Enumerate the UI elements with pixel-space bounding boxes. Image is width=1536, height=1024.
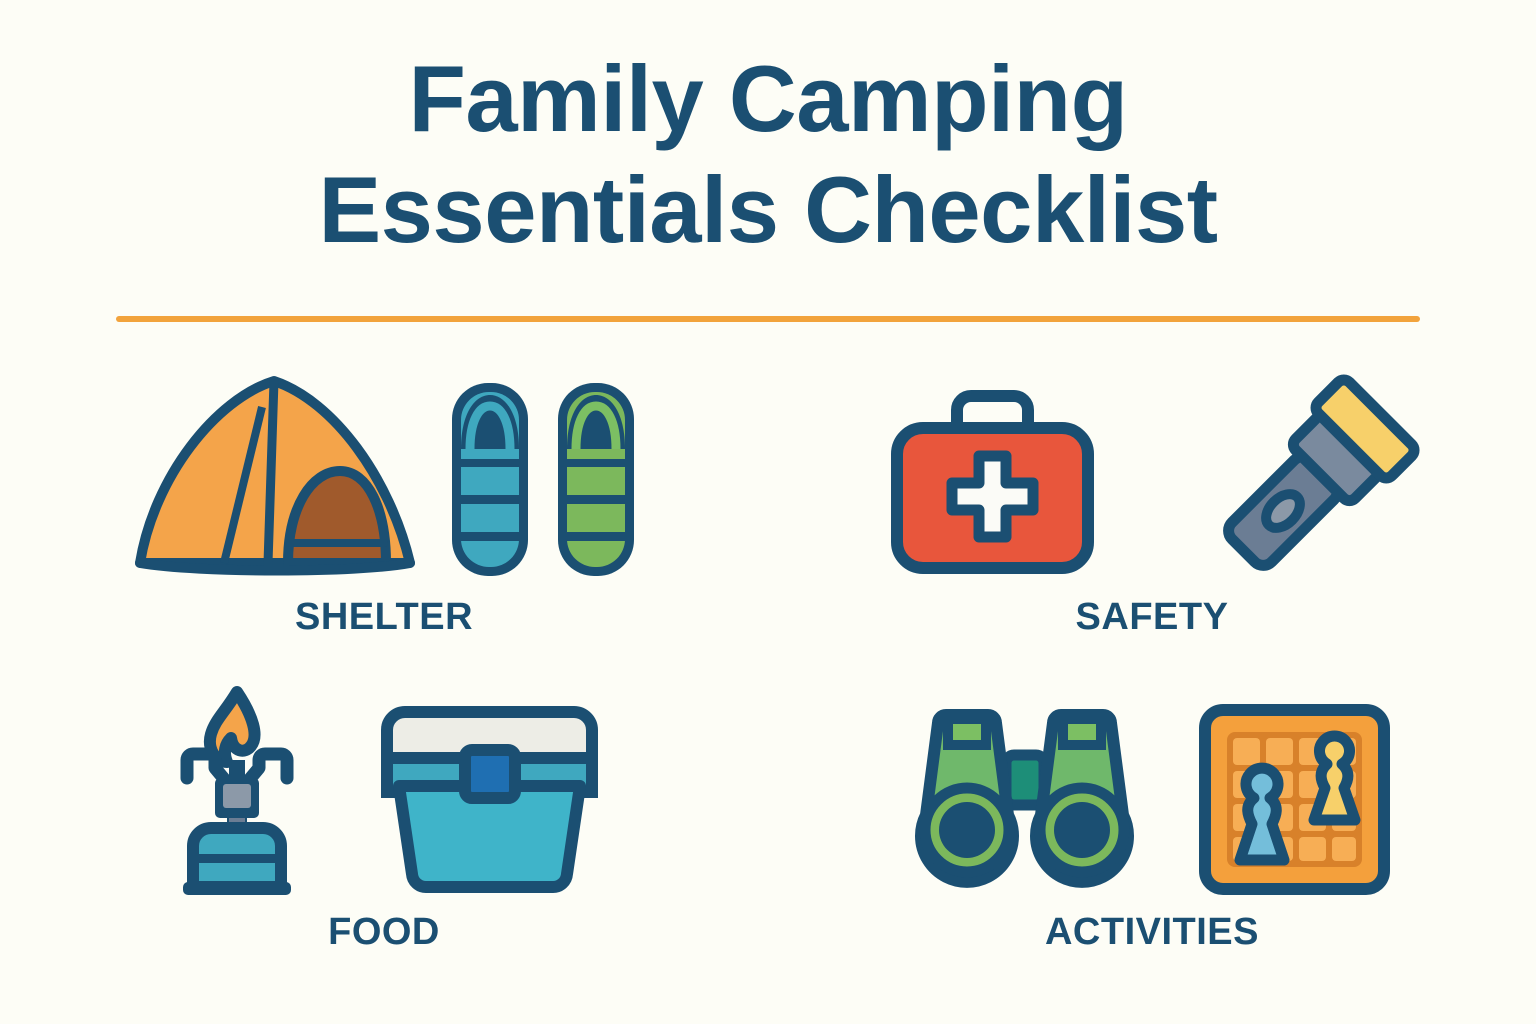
category-label-safety: SAFETY xyxy=(1076,596,1229,639)
category-label-food: FOOD xyxy=(328,911,440,954)
tent-icon xyxy=(128,367,428,582)
food-icons xyxy=(167,672,602,897)
first-aid-kit-icon xyxy=(885,382,1100,582)
safety-icons xyxy=(885,352,1420,582)
page-header: Family Camping Essentials Checklist xyxy=(0,44,1536,266)
category-safety[interactable]: SAFETY xyxy=(768,352,1536,672)
flashlight-icon xyxy=(1205,382,1420,582)
sleeping-bag-green-icon xyxy=(552,377,640,582)
category-label-activities: ACTIVITIES xyxy=(1045,911,1259,954)
title-divider-rule xyxy=(116,316,1420,322)
activities-icons xyxy=(912,672,1392,897)
category-label-shelter: SHELTER xyxy=(295,596,473,639)
category-food[interactable]: FOOD xyxy=(0,672,768,992)
camp-stove-icon xyxy=(167,682,307,897)
infographic-page: Family Camping Essentials Checklist xyxy=(0,0,1536,1024)
board-game-icon xyxy=(1197,702,1392,897)
category-activities[interactable]: ACTIVITIES xyxy=(768,672,1536,992)
shelter-icons xyxy=(128,352,640,582)
category-shelter[interactable]: SHELTER xyxy=(0,352,768,672)
binoculars-icon xyxy=(912,697,1137,897)
sleeping-bag-teal-icon xyxy=(446,377,534,582)
cooler-icon xyxy=(377,702,602,897)
page-title-line-2: Essentials Checklist xyxy=(0,155,1536,266)
page-title-line-1: Family Camping xyxy=(0,44,1536,155)
category-grid: SHELTER xyxy=(0,352,1536,992)
